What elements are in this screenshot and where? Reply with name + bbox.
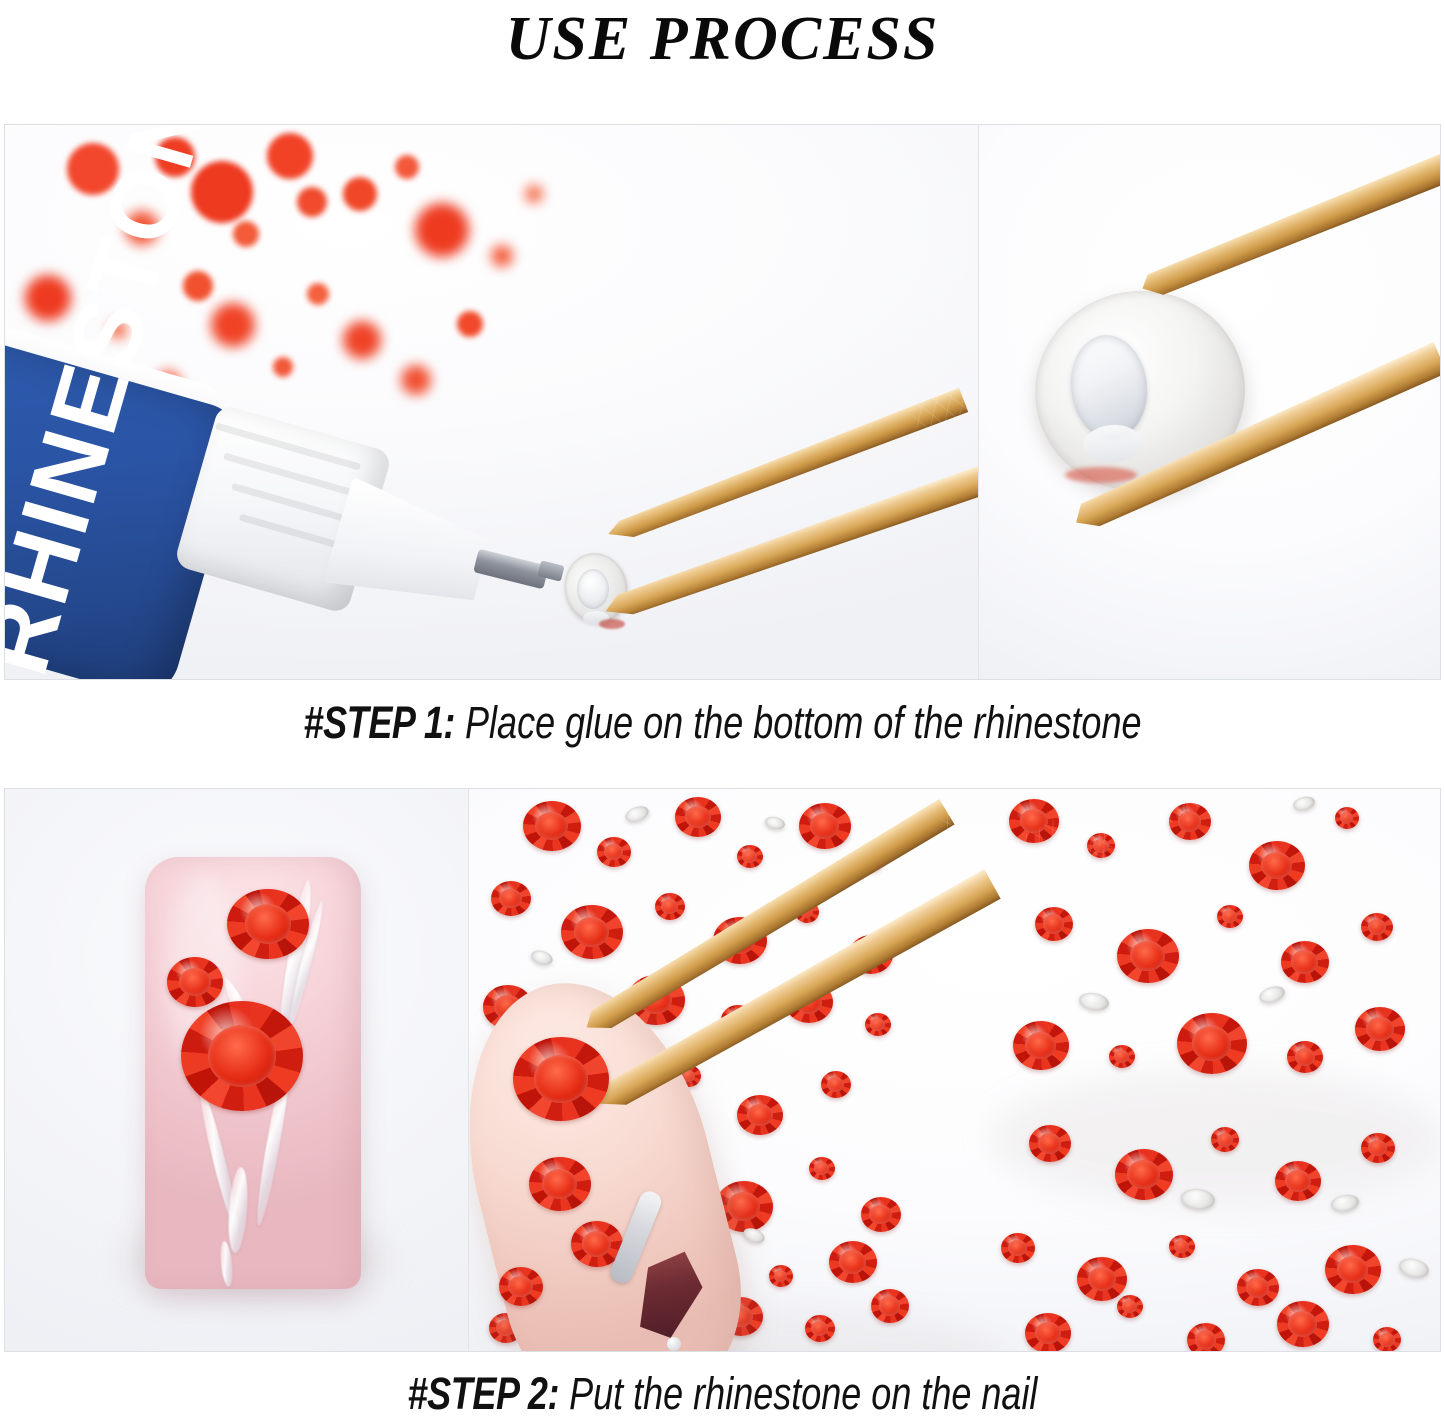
finished-nail-photo [5, 789, 468, 1351]
step-2-text: Put the rhinestone on the nail [569, 1368, 1037, 1419]
glue-droplet [577, 569, 609, 609]
step-1-label: #STEP 1: [304, 697, 456, 748]
step-1-caption: #STEP 1: Place glue on the bottom of the… [145, 697, 1301, 749]
rhinestone-placement-photo [468, 789, 1440, 1351]
rhinestone-being-placed [513, 1037, 609, 1121]
step-1-text: Place glue on the bottom of the rhinesto… [465, 697, 1141, 748]
rhinestone-small [167, 957, 223, 1007]
tweezers-rhinestone-closeup-photo [978, 125, 1440, 679]
rhinestone-on-nail [499, 1267, 543, 1306]
glue-application-photo: GLUE RHINESTONE [5, 125, 978, 679]
step-2-image-row [4, 788, 1441, 1352]
step-2-caption: #STEP 2: Put the rhinestone on the nail [145, 1368, 1301, 1420]
rhinestone-on-nail [529, 1157, 591, 1211]
use-process-infographic: USE PROCESS [0, 0, 1445, 1412]
page-title: USE PROCESS [0, 0, 1445, 78]
rhinestone-large [181, 1001, 303, 1111]
step-2-label: #STEP 2: [408, 1368, 560, 1419]
rhinestone-medium [227, 889, 309, 959]
step-1-image-row: GLUE RHINESTONE [4, 124, 1441, 680]
